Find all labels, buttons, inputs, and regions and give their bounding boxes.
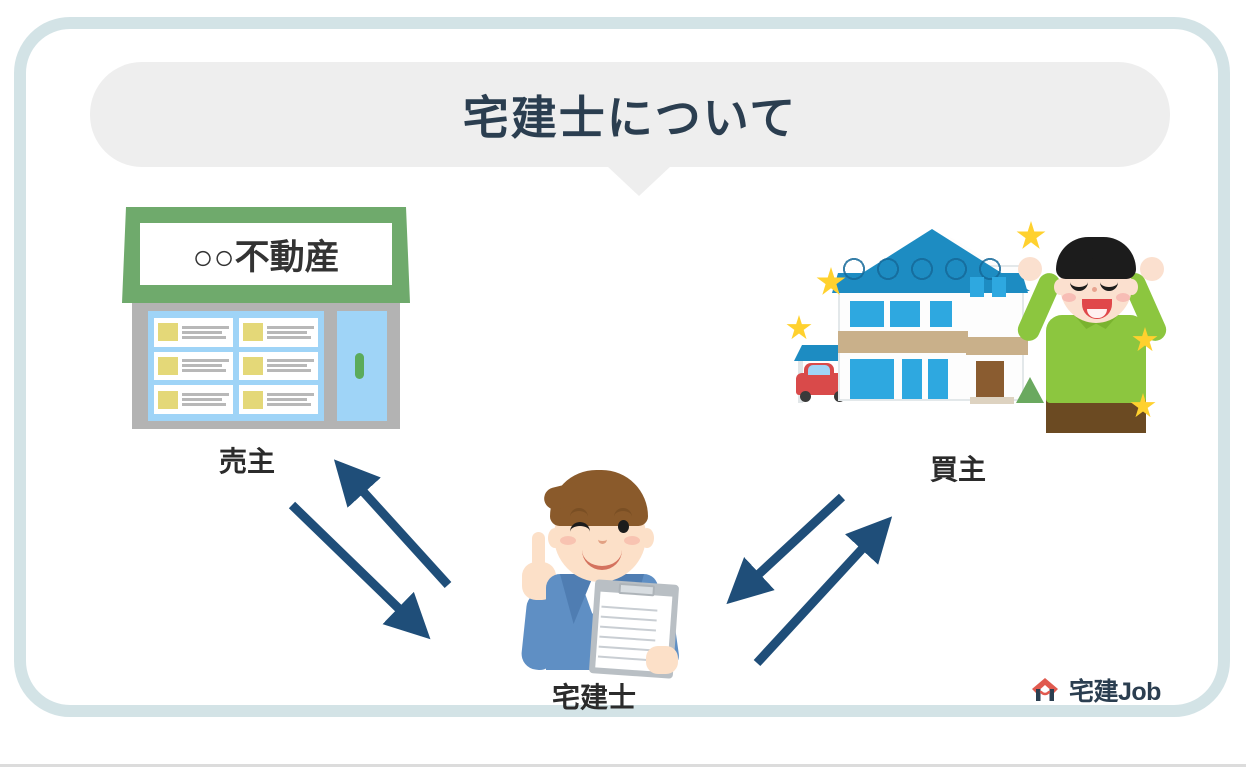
buyer-shirt <box>1046 315 1146 403</box>
listing-thumbnail <box>243 357 263 375</box>
listing-text-lines <box>267 326 314 339</box>
label-agent: 宅建士 <box>552 676 636 716</box>
listing-thumbnail <box>158 357 178 375</box>
banner-tail-icon <box>607 166 671 196</box>
house-small-window <box>992 277 1006 297</box>
buyer-hand-right <box>1140 257 1164 281</box>
listing-text-lines <box>182 393 229 406</box>
buyer-hand-left <box>1018 257 1042 281</box>
listing-thumbnail <box>158 391 178 409</box>
bottom-divider <box>0 764 1246 767</box>
listing-text-lines <box>267 393 314 406</box>
listing-card-grid <box>154 318 318 414</box>
label-buyer: 買主 <box>930 448 986 488</box>
buyer-nose <box>1092 287 1097 292</box>
house-window <box>890 301 920 327</box>
house-smile-icon <box>1030 675 1060 705</box>
listing-text-lines <box>267 359 314 372</box>
house-window <box>850 359 894 399</box>
shop-sign: ○○不動産 <box>140 223 392 285</box>
title-banner: 宅建士について <box>90 62 1170 167</box>
agent-person-illustration <box>506 470 716 670</box>
agent-winking-eye <box>570 522 590 536</box>
listing-thumbnail <box>158 323 178 341</box>
house-front-door <box>976 361 1004 401</box>
agent-cheek <box>560 536 576 545</box>
brand-logo[interactable]: 宅建Job <box>1030 672 1161 708</box>
illustration-canvas: 宅建士について ○○不動産 売主 <box>0 0 1246 774</box>
house-window <box>928 359 948 399</box>
shop-sign-text: ○○不動産 <box>192 229 339 280</box>
listing-card <box>154 352 233 381</box>
buyer-cheek <box>1116 293 1130 302</box>
shop-building <box>132 303 400 429</box>
house-window <box>850 301 884 327</box>
house-window <box>930 301 952 327</box>
listing-text-lines <box>182 326 229 339</box>
buyer-hair <box>1056 237 1136 279</box>
house-porch-step <box>970 397 1014 404</box>
car-window <box>808 365 830 375</box>
agent-cheek <box>624 536 640 545</box>
buyer-cheek <box>1062 293 1076 302</box>
house-window <box>902 359 922 399</box>
listing-card <box>239 318 318 347</box>
listing-card <box>239 352 318 381</box>
real-estate-shop-illustration: ○○不動産 <box>122 207 410 429</box>
page-title: 宅建士について <box>463 82 798 148</box>
label-seller: 売主 <box>219 440 275 480</box>
logo-text: 宅建Job <box>1069 672 1161 708</box>
listing-card <box>154 318 233 347</box>
agent-hair <box>550 470 648 526</box>
sparkle-icon <box>786 315 812 341</box>
listing-thumbnail <box>243 391 263 409</box>
house-small-window <box>970 277 984 297</box>
house-facade-belt <box>838 331 968 353</box>
door-handle-icon <box>355 353 364 379</box>
car-wheel <box>800 391 811 402</box>
listing-card <box>154 385 233 414</box>
agent-nose <box>598 532 607 544</box>
agent-index-finger <box>532 532 545 568</box>
agent-hand-right <box>646 646 678 674</box>
shop-door <box>337 311 387 421</box>
house-and-buyer-illustration <box>780 215 1170 445</box>
shop-window <box>148 311 324 421</box>
listing-thumbnail <box>243 323 263 341</box>
agent-eye <box>618 520 629 533</box>
listing-card <box>239 385 318 414</box>
listing-text-lines <box>182 359 229 372</box>
